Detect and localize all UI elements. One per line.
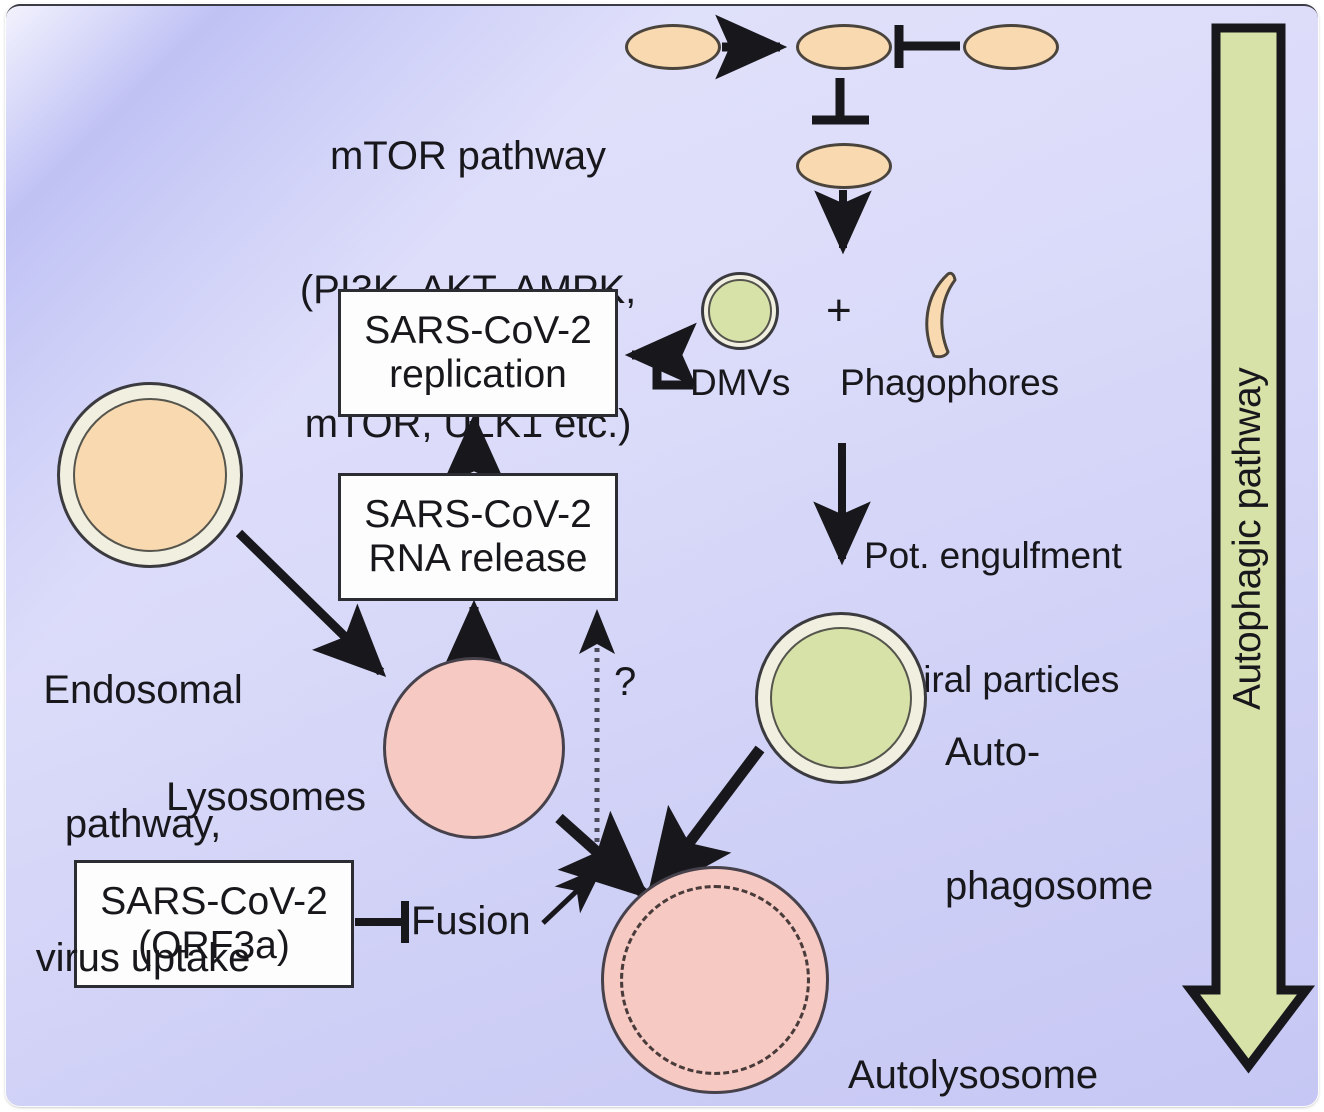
replication-line2: replication [389, 353, 567, 397]
autophagosome-label: Auto- phagosome [945, 640, 1153, 998]
replication-line1: SARS-CoV-2 [364, 309, 592, 353]
autophagosome-inner-membrane [770, 627, 912, 769]
autolysosome-line1: Autolysosome [848, 1053, 1142, 1098]
figure-canvas: mTOR pathway (PI3K, AKT, AMPK, mTOR, ULK… [0, 0, 1324, 1112]
lysosomes-label: Lysosomes [166, 775, 366, 820]
autolysosome-vesicle[interactable] [601, 866, 829, 1094]
autophagosome-line1: Auto- [945, 730, 1153, 775]
dmvs-label: DMVs [690, 362, 790, 403]
rna-release-line1: SARS-CoV-2 [364, 493, 592, 537]
sars-cov2-replication-box[interactable]: SARS-CoV-2 replication [338, 289, 618, 417]
dmv-inner-membrane [708, 279, 772, 343]
endosomal-line3: virus uptake [18, 936, 268, 981]
plus-sign-label: + [826, 286, 852, 335]
autolysosome-inner-dashed-membrane [620, 885, 810, 1075]
endosomal-pathway-label: Endosomal pathway, virus uptake [18, 578, 268, 1071]
pot-engulfment-line1: Pot. engulfment [864, 535, 1122, 576]
edge-lysosome-to-autolysosome [559, 818, 643, 893]
mtor-ellipse-4[interactable] [796, 143, 892, 189]
autolysosome-label: Autolysosome viral degradation [848, 963, 1142, 1112]
autophagosome-vesicle[interactable] [755, 612, 927, 784]
endosomal-line1: Endosomal [18, 668, 268, 713]
fusion-label: Fusion [411, 899, 530, 944]
phagophore-shape[interactable] [908, 268, 962, 362]
dmv-vesicle[interactable] [701, 272, 779, 350]
autophagosome-line2: phagosome [945, 864, 1153, 909]
edge-ellipse2-inhibits-ellipse4 [812, 78, 869, 120]
phagophores-label: Phagophores [840, 362, 1059, 403]
edge-fusion-to-junction [543, 869, 600, 923]
mtor-pathway-line1: mTOR pathway [278, 134, 658, 179]
rna-release-line2: RNA release [369, 537, 588, 581]
edge-ellipse3-inhibits-ellipse2 [899, 25, 960, 68]
autophagic-pathway-label: Autophagic pathway [1226, 390, 1270, 710]
question-mark-label: ? [614, 660, 636, 705]
endosome-vesicle[interactable] [57, 382, 243, 568]
endosome-inner-membrane [73, 398, 227, 552]
mtor-ellipse-2[interactable] [796, 24, 892, 70]
edge-orf3a-inhibits-fusion [355, 901, 405, 943]
mtor-ellipse-3[interactable] [963, 24, 1059, 70]
lysosome-vesicle[interactable] [383, 657, 565, 839]
sars-cov2-rna-release-box[interactable]: SARS-CoV-2 RNA release [338, 473, 618, 601]
